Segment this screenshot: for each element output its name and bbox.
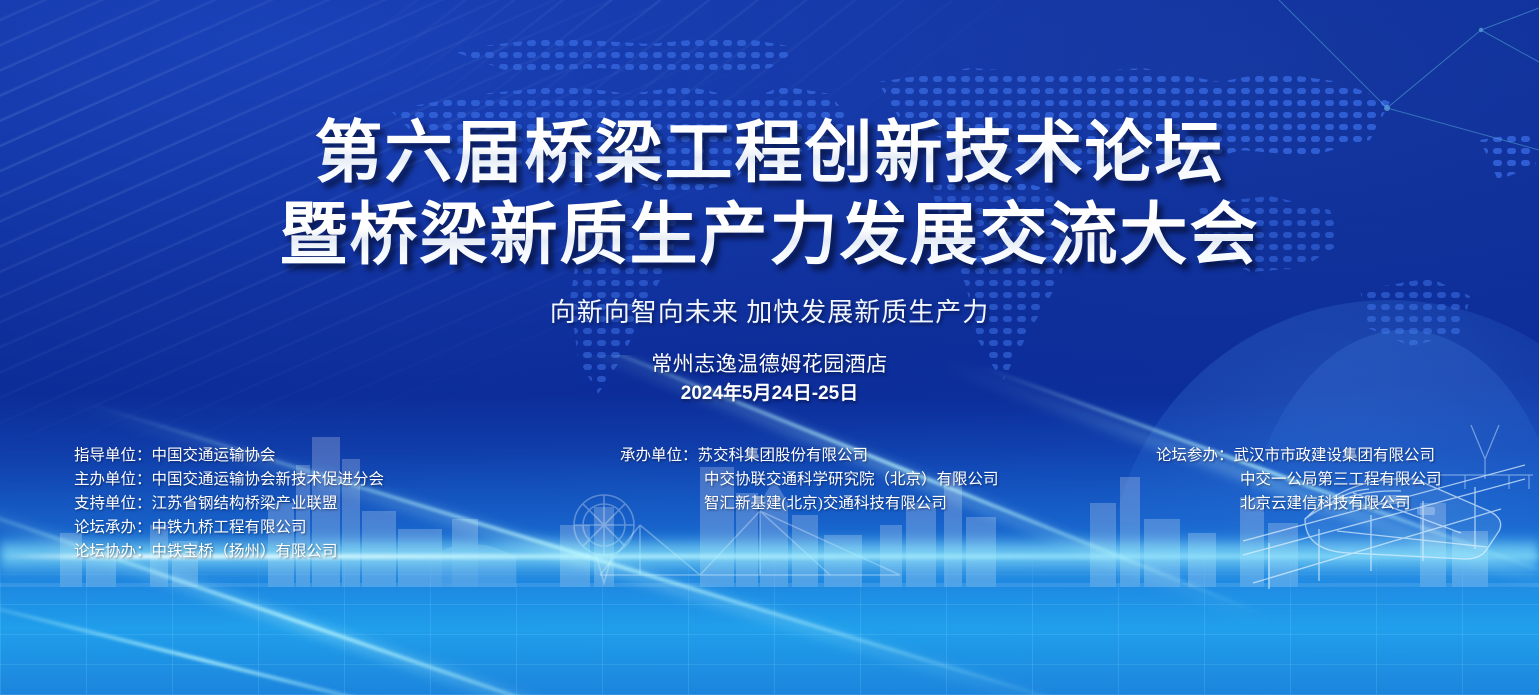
org-value: 智汇新基建(北京)交通科技有限公司 [704,495,947,512]
org-value: 北京云建信科技有限公司 [1240,495,1411,512]
venue-name: 常州志逸温德姆花园酒店 [651,352,888,376]
org-label: 主办单位： [74,468,152,492]
org-row: 中交一公局第三工程有限公司 [1156,468,1442,492]
org-value: 中交一公局第三工程有限公司 [1240,471,1442,488]
banner-content: 第六届桥梁工程创新技术论坛 暨桥梁新质生产力发展交流大会 向新向智向未来 加快发… [0,0,1539,695]
organizations-middle-column: 承办单位：苏交科集团股份有限公司 中交协联交通科学研究院（北京）有限公司 智汇新… [620,444,999,516]
org-row: 支持单位：江苏省钢结构桥梁产业联盟 [74,492,384,516]
org-row: 中交协联交通科学研究院（北京）有限公司 [620,468,999,492]
org-label: 论坛协办： [74,540,152,564]
event-date: 2024年5月24日-25日 [0,381,1539,406]
org-value: 江苏省钢结构桥梁产业联盟 [152,495,338,512]
org-label: 承办单位： [620,444,698,468]
organizations-right-column: 论坛参办：武汉市市政建设集团有限公司 中交一公局第三工程有限公司 北京云建信科技… [1156,444,1442,516]
org-value: 武汉市市政建设集团有限公司 [1234,447,1436,464]
org-value: 苏交科集团股份有限公司 [698,447,869,464]
org-label: 论坛参办： [1156,444,1234,468]
org-row: 论坛参办：武汉市市政建设集团有限公司 [1156,444,1442,468]
event-title: 第六届桥梁工程创新技术论坛 暨桥梁新质生产力发展交流大会 [0,112,1539,276]
org-value: 中铁九桥工程有限公司 [152,519,307,536]
title-line-1: 第六届桥梁工程创新技术论坛 [0,112,1539,194]
org-value: 中国交通运输协会 [152,447,276,464]
org-value: 中铁宝桥（扬州）有限公司 [152,543,338,560]
org-row: 主办单位：中国交通运输协会新技术促进分会 [74,468,384,492]
org-row: 指导单位：中国交通运输协会 [74,444,384,468]
org-value: 中国交通运输协会新技术促进分会 [152,471,385,488]
event-slogan: 向新向智向未来 加快发展新质生产力 [0,292,1539,329]
org-row: 北京云建信科技有限公司 [1156,492,1442,516]
org-row: 论坛协办：中铁宝桥（扬州）有限公司 [74,540,384,564]
organizations-left-column: 指导单位：中国交通运输协会 主办单位：中国交通运输协会新技术促进分会 支持单位：… [74,444,384,564]
organizations-section: 指导单位：中国交通运输协会 主办单位：中国交通运输协会新技术促进分会 支持单位：… [0,444,1539,574]
org-value: 中交协联交通科学研究院（北京）有限公司 [704,471,999,488]
org-label: 支持单位： [74,492,152,516]
event-banner: 第六届桥梁工程创新技术论坛 暨桥梁新质生产力发展交流大会 向新向智向未来 加快发… [0,0,1539,695]
org-row: 智汇新基建(北京)交通科技有限公司 [620,492,999,516]
org-label: 论坛承办： [74,516,152,540]
title-line-2: 暨桥梁新质生产力发展交流大会 [0,194,1539,276]
org-label: 指导单位： [74,444,152,468]
org-row: 论坛承办：中铁九桥工程有限公司 [74,516,384,540]
org-row: 承办单位：苏交科集团股份有限公司 [620,444,999,468]
event-venue-block: 常州志逸温德姆花园酒店 2024年5月24日-25日 [0,352,1539,406]
